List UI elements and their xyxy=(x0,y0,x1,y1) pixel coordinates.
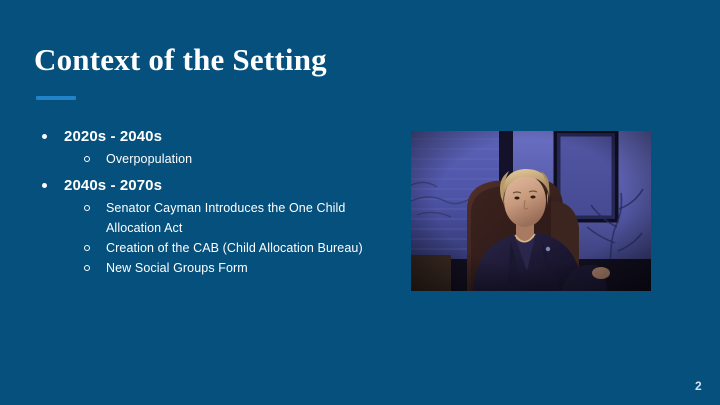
list-item-label: Senator Cayman Introduces the One Child … xyxy=(106,201,345,235)
bullet-list: 2020s - 2040s Overpopulation 2040s - 207… xyxy=(36,126,386,278)
bullet-dot-icon xyxy=(42,183,47,188)
list-item: Senator Cayman Introduces the One Child … xyxy=(36,198,386,238)
page-number: 2 xyxy=(695,379,702,393)
page-title: Context of the Setting xyxy=(34,44,327,75)
bullet-circle-icon xyxy=(84,265,90,271)
bullet-dot-icon xyxy=(42,134,47,139)
list-item-label: 2040s - 2070s xyxy=(64,177,162,194)
list-item-label: Overpopulation xyxy=(106,152,192,166)
list-item-label: New Social Groups Form xyxy=(106,261,248,275)
list-item: Creation of the CAB (Child Allocation Bu… xyxy=(36,238,386,258)
list-item: 2020s - 2040s xyxy=(36,126,386,147)
bullet-circle-icon xyxy=(84,245,90,251)
list-item: New Social Groups Form xyxy=(36,258,386,278)
sublist: Overpopulation xyxy=(36,149,386,169)
list-item-label: 2020s - 2040s xyxy=(64,128,162,145)
title-accent-rule xyxy=(36,96,76,100)
slide-photo xyxy=(411,131,651,291)
slide: Context of the Setting 2020s - 2040s Ove… xyxy=(0,0,720,405)
list-item: Overpopulation xyxy=(36,149,386,169)
bullet-circle-icon xyxy=(84,156,90,162)
bullet-circle-icon xyxy=(84,205,90,211)
list-item: 2040s - 2070s xyxy=(36,175,386,196)
list-item-label: Creation of the CAB (Child Allocation Bu… xyxy=(106,241,363,255)
sublist: Senator Cayman Introduces the One Child … xyxy=(36,198,386,278)
